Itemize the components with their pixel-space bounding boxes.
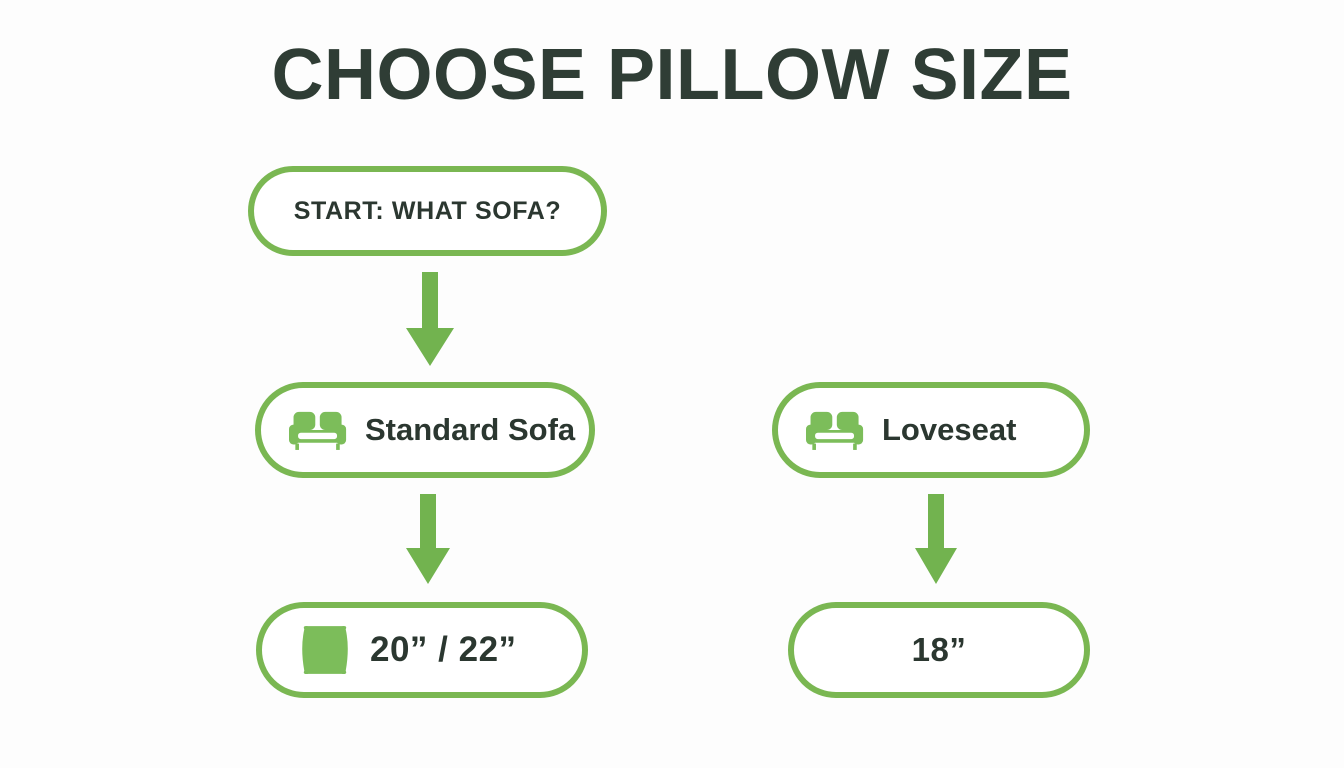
sofa-icon <box>289 406 347 454</box>
pillow-icon <box>296 621 354 679</box>
flow-node-standard-sofa-label: Standard Sofa <box>365 412 575 448</box>
flow-node-size-standard-label: 20” / 22” <box>370 630 517 670</box>
page-title: CHOOSE PILLOW SIZE <box>0 32 1344 118</box>
flow-node-size-standard[interactable]: 20” / 22” <box>256 602 588 698</box>
infographic-canvas: CHOOSE PILLOW SIZE START: WHAT SOFA? Sta… <box>0 0 1344 768</box>
sofa-icon <box>806 406 864 454</box>
flow-node-start[interactable]: START: WHAT SOFA? <box>248 166 607 256</box>
flow-node-loveseat[interactable]: Loveseat <box>772 382 1090 478</box>
flow-node-size-loveseat-label: 18” <box>912 631 967 669</box>
flow-node-loveseat-label: Loveseat <box>882 412 1016 448</box>
flow-node-size-loveseat[interactable]: 18” <box>788 602 1090 698</box>
arrow-down-icon-loveseat-to-size <box>913 494 959 586</box>
flow-node-standard-sofa[interactable]: Standard Sofa <box>255 382 595 478</box>
flow-node-start-label: START: WHAT SOFA? <box>294 197 562 226</box>
arrow-down-icon-start-to-standard-sofa <box>404 272 456 368</box>
arrow-down-icon-standard-sofa-to-size <box>404 494 452 586</box>
